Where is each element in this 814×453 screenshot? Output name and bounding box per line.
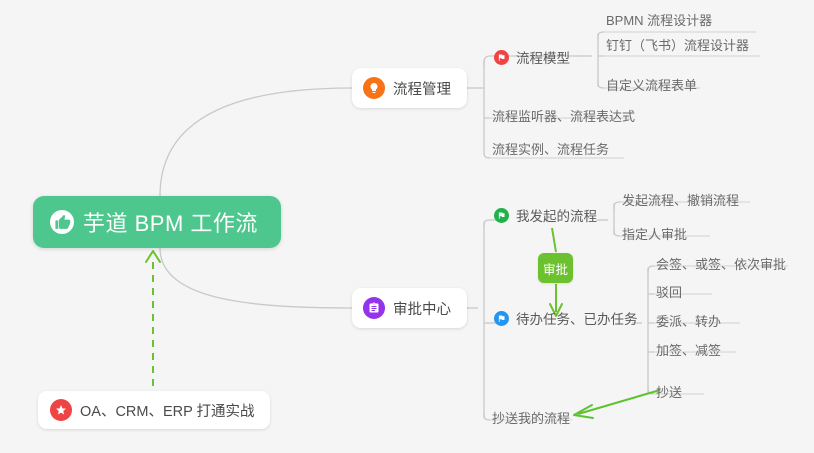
lightbulb-icon bbox=[363, 77, 385, 99]
root-node[interactable]: 芋道 BPM 工作流 bbox=[33, 196, 281, 248]
branch-node-approval-center[interactable]: 审批中心 bbox=[352, 288, 467, 328]
clipboard-icon bbox=[363, 297, 385, 319]
thumbs-up-icon bbox=[50, 210, 74, 234]
star-icon bbox=[50, 399, 72, 421]
leaf-process-listener[interactable]: 流程监听器、流程表达式 bbox=[492, 108, 635, 125]
branch-label-process-management: 流程管理 bbox=[393, 78, 451, 99]
leaf-reject[interactable]: 驳回 bbox=[656, 284, 682, 301]
node-process-model[interactable]: 流程模型 bbox=[494, 47, 570, 67]
approval-pill-label: 审批 bbox=[543, 259, 568, 278]
leaf-bpmn-designer[interactable]: BPMN 流程设计器 bbox=[606, 12, 712, 29]
integration-card[interactable]: OA、CRM、ERP 打通实战 bbox=[38, 391, 270, 429]
leaf-process-instance[interactable]: 流程实例、流程任务 bbox=[492, 141, 609, 158]
flag-icon bbox=[494, 50, 509, 65]
branch-label-approval-center: 审批中心 bbox=[393, 298, 451, 319]
leaf-add-remove-sign[interactable]: 加签、减签 bbox=[656, 342, 721, 359]
leaf-assignee-approval[interactable]: 指定人审批 bbox=[622, 226, 687, 243]
node-label-process-model: 流程模型 bbox=[516, 47, 570, 67]
node-label-my-initiated-process: 我发起的流程 bbox=[516, 205, 597, 225]
node-my-initiated-process[interactable]: 我发起的流程 bbox=[494, 205, 597, 225]
node-todo-done-tasks[interactable]: 待办任务、已办任务 bbox=[494, 308, 638, 328]
leaf-custom-form[interactable]: 自定义流程表单 bbox=[606, 77, 697, 94]
mindmap-canvas: 芋道 BPM 工作流 流程管理 流程模型 BPMN 流程设计器 钉钉（飞书）流程… bbox=[0, 0, 814, 453]
integration-card-label: OA、CRM、ERP 打通实战 bbox=[80, 400, 255, 421]
leaf-start-cancel-process[interactable]: 发起流程、撤销流程 bbox=[622, 192, 739, 209]
green-arrow-cc bbox=[574, 390, 660, 418]
dashed-arrow-to-root bbox=[146, 251, 160, 386]
leaf-countersign[interactable]: 会签、或签、依次审批 bbox=[656, 256, 786, 273]
flag-icon bbox=[494, 311, 509, 326]
node-label-todo-done-tasks: 待办任务、已办任务 bbox=[516, 308, 638, 328]
leaf-cc-to-me-process[interactable]: 抄送我的流程 bbox=[492, 410, 570, 427]
flag-icon bbox=[494, 208, 509, 223]
leaf-cc[interactable]: 抄送 bbox=[656, 384, 682, 401]
leaf-delegate-transfer[interactable]: 委派、转办 bbox=[656, 313, 721, 330]
leaf-dingtalk-designer[interactable]: 钉钉（飞书）流程设计器 bbox=[606, 37, 749, 54]
approval-pill: 审批 bbox=[538, 253, 573, 283]
root-node-label: 芋道 BPM 工作流 bbox=[83, 206, 258, 238]
branch-node-process-management[interactable]: 流程管理 bbox=[352, 68, 467, 108]
